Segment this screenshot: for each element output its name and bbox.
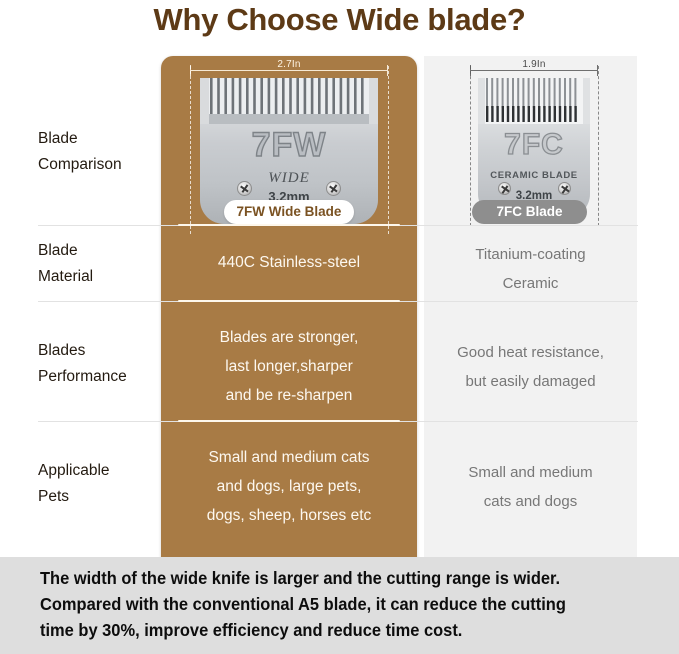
cell-line: Blades are stronger, (161, 323, 417, 352)
blade-screw-left-7fc (498, 182, 511, 195)
dimension-label-7fc: 1.9In (516, 59, 552, 70)
blade-screw-right-7fc (558, 182, 571, 195)
cell-line: Small and medium cats (161, 443, 417, 472)
cell-line: Good heat resistance, (424, 338, 637, 367)
banner-text: The width of the wide knife is larger an… (40, 565, 609, 643)
cell-line: last longer,sharper (161, 352, 417, 381)
cell-competitor-performance: Good heat resistance, but easily damaged (424, 338, 637, 396)
row-label-column: Blade Comparison Blade Material Blades P… (0, 48, 161, 553)
banner-line-3: time by 30%, improve efficiency and redu… (40, 620, 462, 640)
blade-teeth-7fc (478, 78, 590, 124)
cell-line: and be re-sharpen (161, 381, 417, 410)
page-title: Why Choose Wide blade? (0, 2, 679, 38)
row-label-line1: Blades (38, 338, 158, 364)
banner-line-2: Compared with the conventional A5 blade,… (40, 594, 566, 614)
row-label-line1: Applicable (38, 458, 158, 484)
row-label-line1: Blade (38, 126, 158, 152)
blade-sub-7fc: CERAMIC BLADE (478, 170, 590, 181)
banner-line-1: The width of the wide knife is larger an… (40, 568, 560, 588)
row-label-line2: Pets (38, 484, 158, 510)
blade-body-7fc: 7FC CERAMIC BLADE 3.2mm (478, 78, 590, 218)
cell-line: Titanium-coating (424, 240, 637, 269)
cell-line: Small and medium (424, 458, 637, 487)
bottom-banner: The width of the wide knife is larger an… (0, 557, 679, 654)
dimension-label-7fw: 2.7In (268, 59, 310, 70)
row-label-line1: Blade (38, 238, 158, 264)
cell-line: cats and dogs (424, 487, 637, 516)
row-separator-gold-3 (178, 420, 400, 422)
cell-line: Ceramic (424, 269, 637, 298)
dimension-line-7fc: 1.9In (470, 62, 598, 76)
dimension-line-7fw: 2.7In (190, 62, 388, 76)
row-label-blade-comparison: Blade Comparison (38, 126, 158, 178)
cell-highlight-pets: Small and medium cats and dogs, large pe… (161, 443, 417, 530)
blade-teeth-7fw (200, 78, 378, 124)
row-label-blade-material: Blade Material (38, 238, 158, 290)
cell-competitor-material: Titanium-coating Ceramic (424, 240, 637, 298)
blade-sub-7fw: WIDE (200, 170, 378, 187)
cell-highlight-material: 440C Stainless-steel (161, 248, 417, 277)
badge-7fw-wide-blade[interactable]: 7FW Wide Blade (224, 200, 354, 224)
blade-model-7fw: 7FW (200, 126, 378, 165)
row-label-line2: Comparison (38, 152, 158, 178)
cell-line: but easily damaged (424, 367, 637, 396)
row-label-line2: Performance (38, 364, 158, 390)
blade-screw-right-7fw (326, 181, 341, 196)
row-label-applicable-pets: Applicable Pets (38, 458, 158, 510)
blade-model-7fc: 7FC (478, 128, 590, 162)
comparison-board: 2.7In (0, 48, 679, 553)
cell-line: dogs, sheep, horses etc (161, 501, 417, 530)
row-separator-gold-1 (178, 224, 400, 226)
row-separator-gold-2 (178, 300, 400, 302)
blade-screw-left-7fw (237, 181, 252, 196)
cell-line: and dogs, large pets, (161, 472, 417, 501)
cell-highlight-performance: Blades are stronger, last longer,sharper… (161, 323, 417, 410)
badge-7fc-blade[interactable]: 7FC Blade (472, 200, 587, 224)
cell-line: 440C Stainless-steel (161, 248, 417, 277)
row-label-blades-performance: Blades Performance (38, 338, 158, 390)
cell-competitor-pets: Small and medium cats and dogs (424, 458, 637, 516)
row-label-line2: Material (38, 264, 158, 290)
